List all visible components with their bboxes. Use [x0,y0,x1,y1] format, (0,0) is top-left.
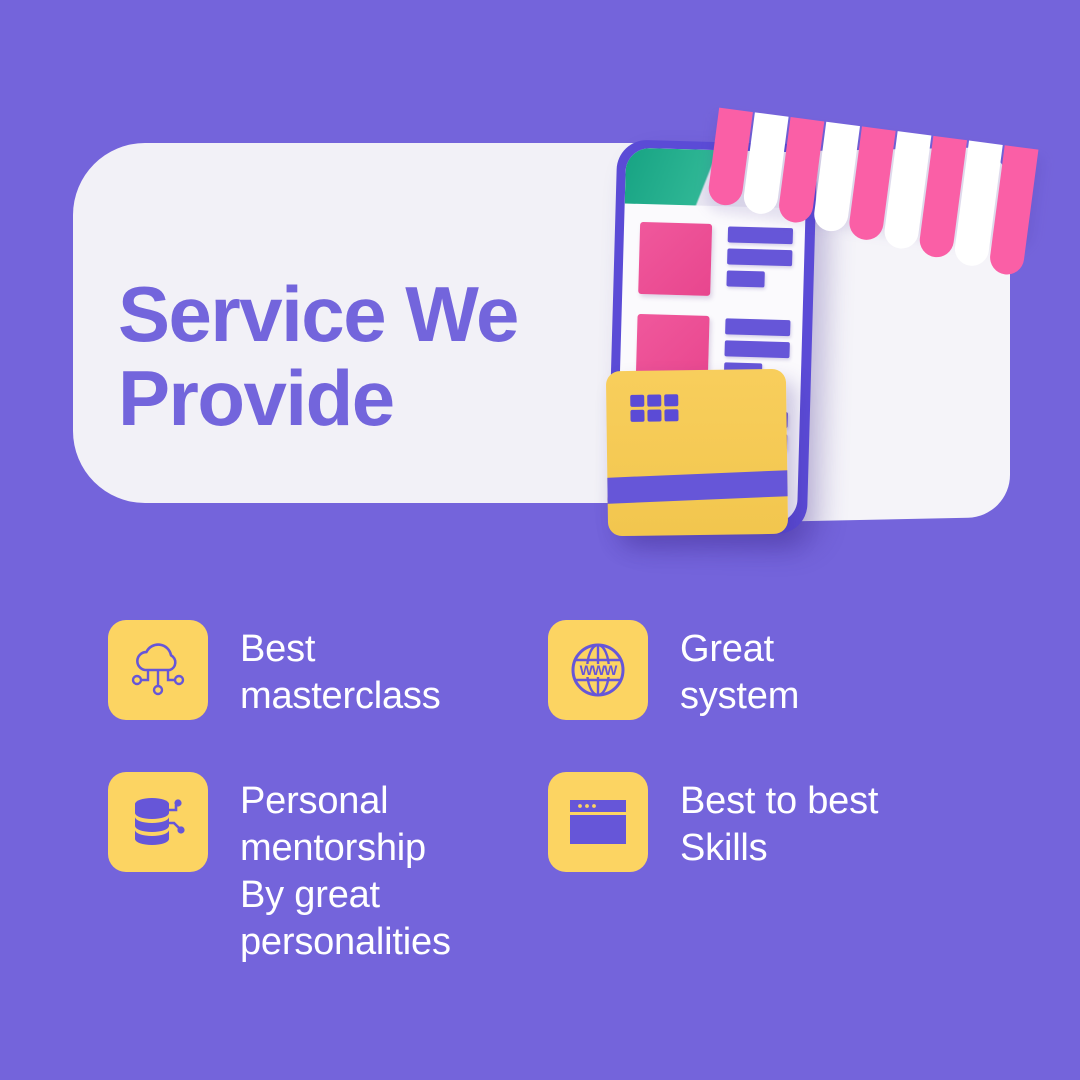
feature-item-great-system[interactable]: WWW Great system [548,620,988,720]
database-network-icon [127,791,189,853]
cloud-network-icon [127,639,189,701]
hero-illustration [590,120,1050,560]
poster-canvas: Service We Provide [0,0,1080,1080]
credit-card [606,369,788,536]
feature-label: Best masterclass [240,620,441,720]
feature-item-best-masterclass[interactable]: Best masterclass [108,620,548,720]
text-bar [725,318,790,336]
globe-www-icon-tile: WWW [548,620,648,720]
globe-www-icon: WWW [567,639,629,701]
text-bar [726,270,764,287]
text-bar [727,248,792,266]
cloud-network-icon-tile [108,620,208,720]
browser-window-icon-tile [548,772,648,872]
text-bar [724,340,789,358]
svg-text:WWW: WWW [580,662,618,678]
feature-label: Personal mentorship By great personaliti… [240,772,451,966]
feature-grid: Best masterclass WWW Great system [108,620,988,1018]
feature-item-best-to-best-skills[interactable]: Best to best Skills [548,772,988,966]
browser-window-icon [567,797,629,847]
feature-label: Great system [680,620,799,720]
feature-item-personal-mentorship[interactable]: Personal mentorship By great personaliti… [108,772,548,966]
feature-label: Best to best Skills [680,772,878,872]
magnetic-stripe [606,469,788,504]
product-thumbnail [638,222,712,296]
card-chip-icon [630,394,678,422]
database-network-icon-tile [108,772,208,872]
